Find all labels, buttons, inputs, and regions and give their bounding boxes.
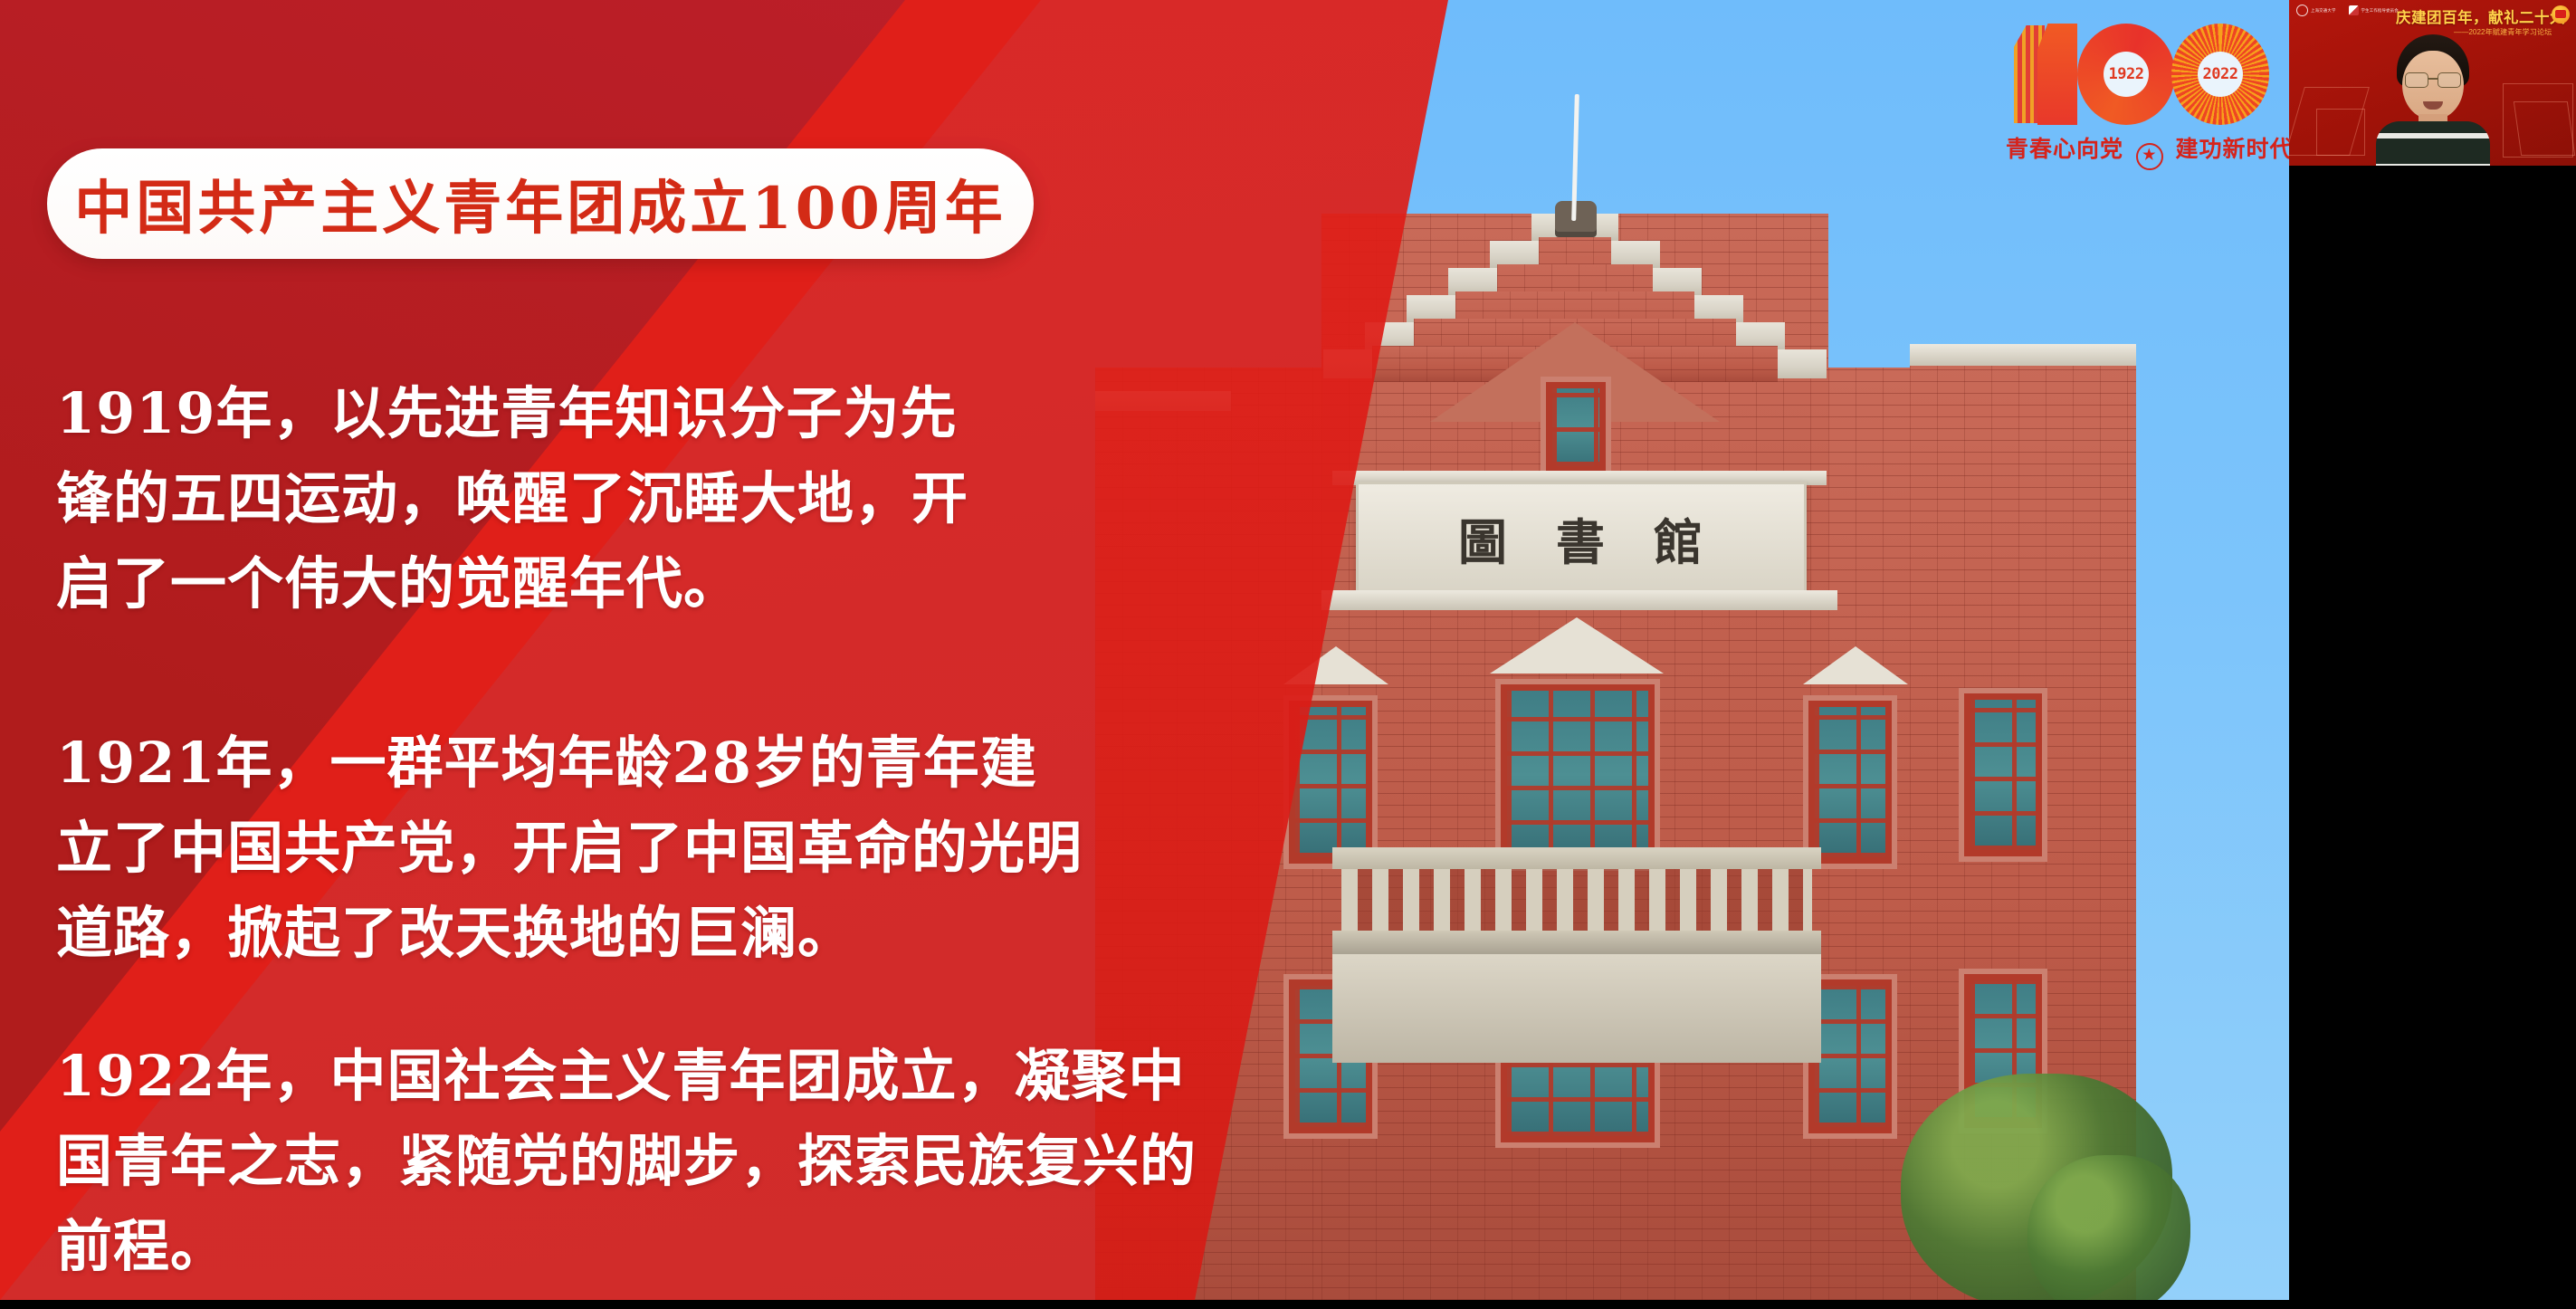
org-logos: 上海交通大学 学生工作指导委员会 [2296,5,2399,16]
logo-digit-one [2014,24,2081,125]
library-plaque: 圖 書 館 [1356,482,1807,594]
entrance-steps [1332,954,1821,1063]
logo-slogan-left: 青春心向党 [2006,136,2123,162]
plaque-char-3: 館 [1654,502,1704,574]
balustrade [1341,869,1812,931]
logo-year-start: 1922 [2109,65,2144,83]
window-far-right-upper [1964,693,2042,856]
pediment-center [1490,617,1664,674]
bg-line-art-left-2 [2316,109,2365,156]
video-banner-title: 庆建团百年，献礼二十大 [2396,5,2565,27]
org-logo-1: 上海交通大学 [2296,5,2336,16]
plaque-char-1: 圖 [1458,502,1509,574]
slide-title-pill: 中国共产主义青年团成立100周年 [47,148,1034,259]
window-center-upper [1501,684,1655,865]
speaker-avatar [2376,34,2490,166]
logo-slogan: 青春心向党 ★ 建功新时代 [2006,131,2277,170]
bg-line-art-right-2 [2514,101,2575,156]
slide-paragraph-1919: 1919年，以先进青年知识分子为先锋的五四运动，唤醒了沉睡大地，开启了一个伟大的… [56,371,988,627]
slide-title: 中国共产主义青年团成立100周年 [74,162,1007,245]
speaker-video-tile[interactable]: 上海交通大学 学生工作指导委员会 庆建团百年，献礼二十大 ——2022年赋建青年… [2289,0,2576,166]
slide-bottom-letterbox [0,1300,2289,1309]
pediment-right [1803,646,1908,684]
org-logo-2: 学生工作指导委员会 [2349,5,2399,15]
slide-paragraph-1921: 1921年，一群平均年龄28岁的青年建立了中国共产党，开启了中国革命的光明道路，… [56,721,1088,977]
participant-video-pane[interactable]: 上海交通大学 学生工作指导委员会 庆建团百年，献礼二十大 ——2022年赋建青年… [2289,0,2576,1309]
glasses-icon [2404,72,2462,86]
plaque-char-2: 書 [1556,502,1607,574]
logo-slogan-right: 建功新时代 [2175,136,2289,162]
anniversary-100-logo: 1922 2022 青春心向党 ★ 建功新时代 [2006,20,2277,174]
shared-slide: 圖 書 館 [0,0,2289,1300]
slide-paragraph-1922: 1922年，中国社会主义青年团成立，凝聚中国青年之志，紧随党的脚步，探索民族复兴… [56,1034,1233,1290]
pier-right-cap [1910,344,2136,366]
window-right-upper [1808,701,1892,864]
logo-zero-1922: 1922 [2077,24,2175,125]
meeting-screen: 圖 書 館 [0,0,2576,1309]
plaque-cornice-bottom [1321,590,1837,610]
logo-zero-2022: 2022 [2171,24,2269,125]
emblem-icon [2552,5,2570,24]
video-pane-empty-area [2289,166,2576,1309]
striped-shirt [2376,121,2490,166]
gable-window [1546,382,1606,473]
logo-year-end: 2022 [2203,65,2238,83]
balcony [1332,847,1821,954]
org-logo-1-label: 上海交通大学 [2311,8,2336,14]
logo-star-icon: ★ [2136,143,2163,170]
tree-right-2 [2027,1155,2190,1300]
org-logo-2-label: 学生工作指导委员会 [2361,8,2399,14]
